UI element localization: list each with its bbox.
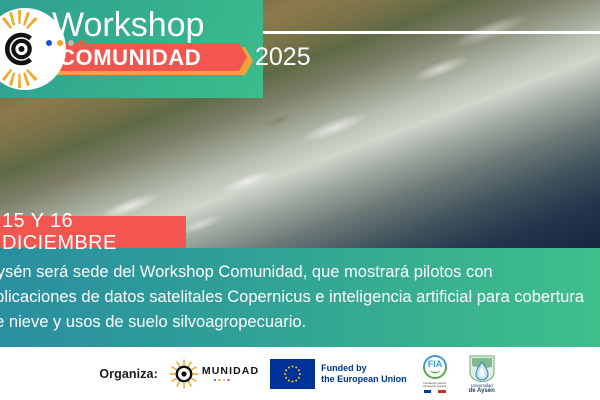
footer-logo-universidad-aysen: Universidad de Aysén [463, 354, 501, 394]
uaysen-shield-icon [468, 354, 496, 382]
chile-flag-stripe [424, 390, 446, 393]
date-text: 15 Y 16 DICIEMBRE [2, 210, 186, 254]
dot-grey [68, 40, 74, 46]
dot-orange [57, 40, 63, 46]
date-banner: 15 Y 16 DICIEMBRE [0, 216, 186, 248]
dot-red [79, 40, 85, 46]
uaysen-line2: de Aysén [469, 388, 495, 394]
title-year: 2025 [255, 43, 311, 72]
comunidad-eye-icon [0, 30, 38, 68]
workshop-comunidad-poster: Workshop COMUNIDAD 2025 15 Y 16 DICIEMBR… [0, 0, 600, 400]
dot-blue [46, 40, 52, 46]
description-text: Aysén será sede del Workshop Comunidad, … [0, 260, 586, 335]
brand-dots [46, 38, 110, 48]
uaysen-wordmark: Universidad de Aysén [469, 383, 495, 394]
organiza-label: Organiza: [99, 367, 158, 381]
comunidad-sun-icon [169, 359, 199, 389]
comunidad-wordmark-text: MUNIDAD [202, 366, 259, 377]
footer-logo-bar: Organiza: [0, 347, 600, 400]
footer-logo-european-union: Funded by the European Union [270, 359, 407, 389]
fia-subtitle: Fundación para la Innovación Agraria [418, 382, 452, 389]
eu-flag-icon [270, 359, 315, 389]
header-divider-rule [262, 31, 600, 34]
description-block: Aysén será sede del Workshop Comunidad, … [0, 248, 600, 347]
footer-logo-comunidad: MUNIDAD [169, 359, 259, 389]
title-comunidad-text: COMUNIDAD [59, 45, 201, 70]
comunidad-wordmark: MUNIDAD [202, 366, 259, 381]
fia-icon: FIA [421, 355, 449, 381]
comunidad-wordmark-dots [214, 379, 230, 382]
eu-funding-text: Funded by the European Union [321, 363, 407, 385]
footer-logo-fia: FIA Fundación para la Innovación Agraria [418, 355, 452, 393]
svg-text:FIA: FIA [427, 359, 442, 369]
